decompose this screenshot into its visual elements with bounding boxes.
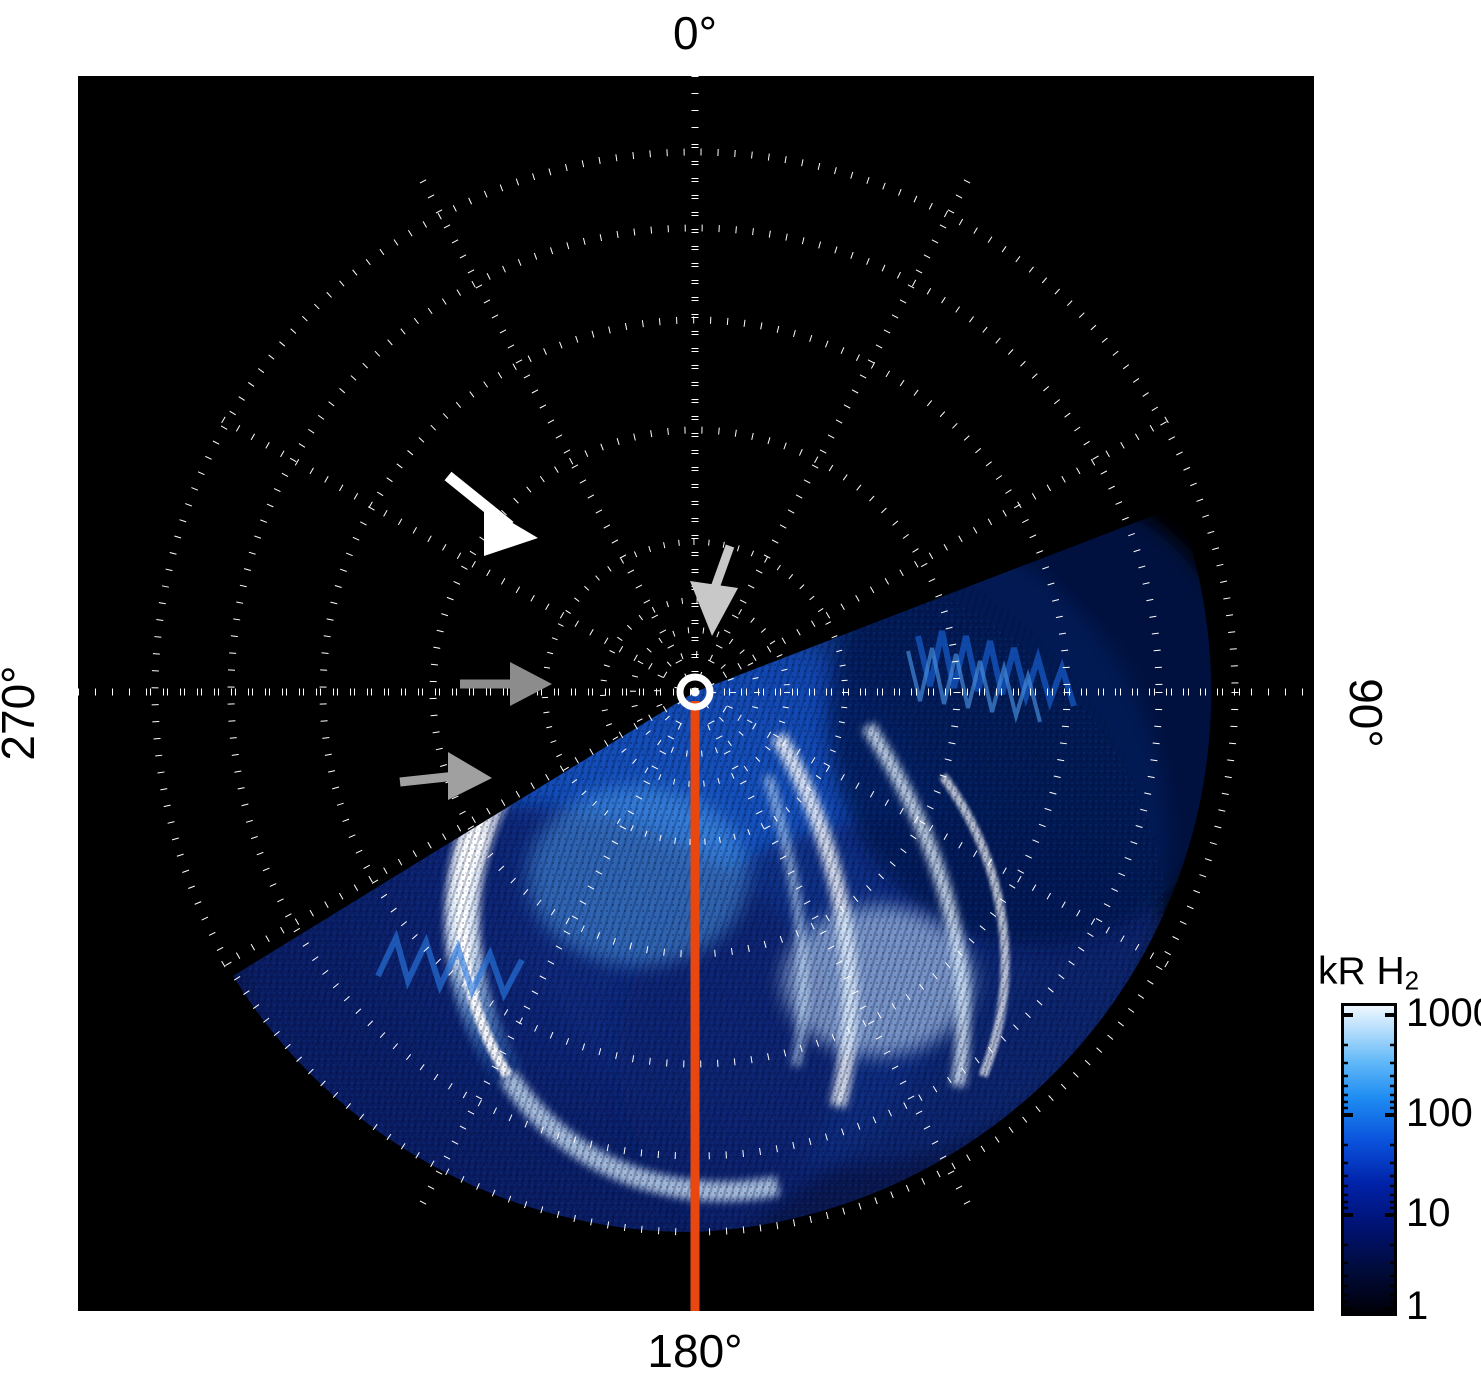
polar-plot-svg	[78, 76, 1314, 1311]
axis-label-left: 270°	[0, 633, 41, 793]
colorbar-gradient	[1341, 1003, 1397, 1316]
pole-marker-dot	[691, 688, 700, 697]
colorbar-title-text: kR H	[1318, 950, 1405, 993]
colorbar-tick-label-100: 100	[1406, 1093, 1473, 1133]
colorbar-group: kR H2	[1318, 950, 1481, 1330]
colorbar-title: kR H2	[1318, 950, 1419, 997]
colorbar-tick-label-1: 1	[1406, 1286, 1428, 1326]
axis-label-bottom: 180°	[0, 1328, 1390, 1374]
axis-label-top: 0°	[0, 10, 1390, 56]
figure-root: 0° 180° 270° 90°	[0, 0, 1481, 1386]
colorbar-tick-label-1000: 1000	[1406, 993, 1481, 1033]
polar-plot-panel	[78, 76, 1314, 1311]
axis-label-right: 90°	[1343, 633, 1389, 793]
colorbar-tick-label-10: 10	[1406, 1193, 1451, 1233]
